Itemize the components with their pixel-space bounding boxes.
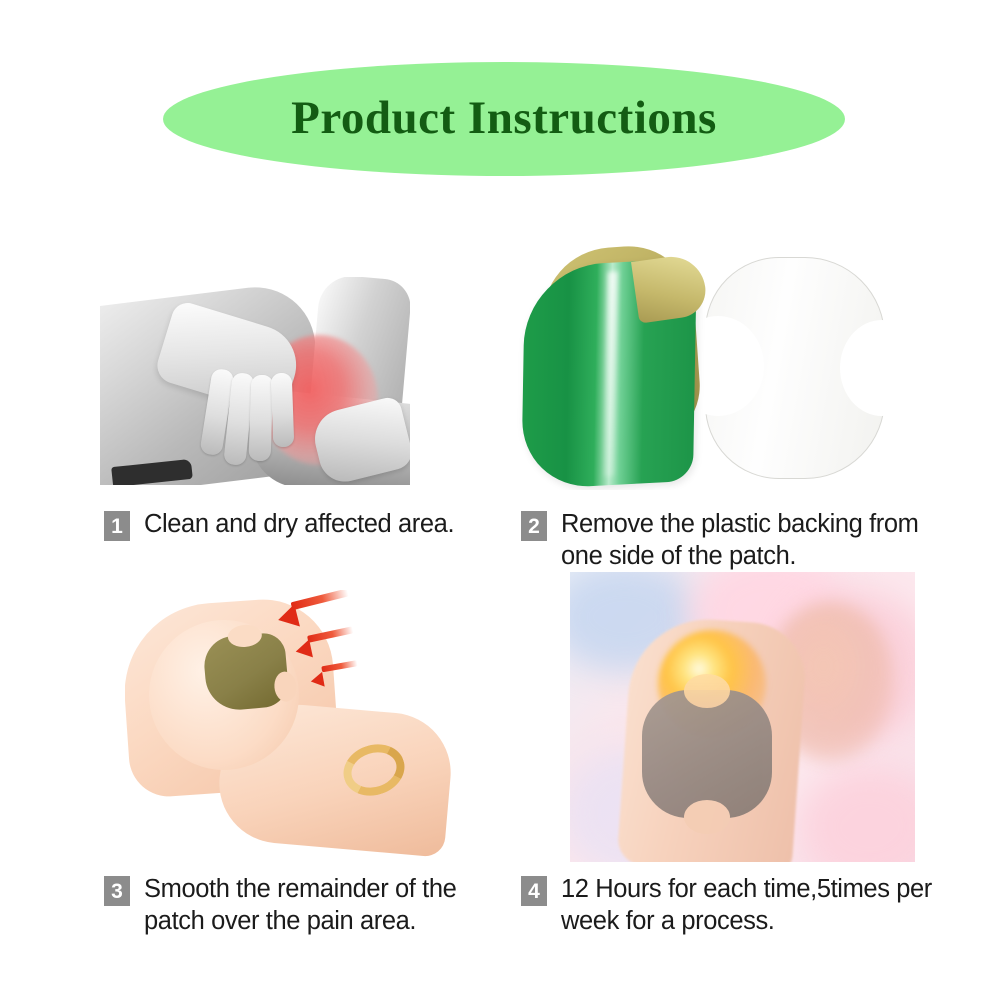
olive-patch-shape <box>202 632 290 713</box>
step-text-4: 12 Hours for each time,5times per week f… <box>561 874 941 938</box>
finger-shape <box>271 373 295 448</box>
knee-patch-applied-photo <box>570 572 915 862</box>
step-badge-4: 4 <box>521 876 547 906</box>
peeled-film-curl-shape <box>631 252 709 323</box>
step-badge-2: 2 <box>521 511 547 541</box>
step-text-2: Remove the plastic backing from one side… <box>561 509 921 573</box>
title-banner: Product Instructions <box>163 62 845 176</box>
step-caption-4: 4 12 Hours for each time,5times per week… <box>521 874 941 938</box>
step-badge-3: 3 <box>104 876 130 906</box>
bokeh-blur <box>800 767 915 862</box>
step-caption-3: 3 Smooth the remainder of the patch over… <box>104 874 504 938</box>
arrow-tail <box>291 590 349 610</box>
step-panel-3 <box>100 590 470 880</box>
finger-shape <box>249 375 274 462</box>
applied-patch-shape <box>642 690 772 818</box>
patch-product-photo <box>515 245 915 490</box>
knee-pain-photo <box>100 277 410 485</box>
arrow-head <box>310 672 325 689</box>
knee-patch-illustration <box>125 590 470 860</box>
step-caption-1: 1 Clean and dry affected area. <box>104 509 484 541</box>
white-patch-shape <box>705 257 885 479</box>
step-caption-2: 2 Remove the plastic backing from one si… <box>521 509 921 573</box>
step-text-1: Clean and dry affected area. <box>144 509 454 541</box>
step-text-3: Smooth the remainder of the patch over t… <box>144 874 504 938</box>
step-badge-1: 1 <box>104 511 130 541</box>
page-title: Product Instructions <box>291 95 717 142</box>
step-panel-4 <box>515 570 915 870</box>
